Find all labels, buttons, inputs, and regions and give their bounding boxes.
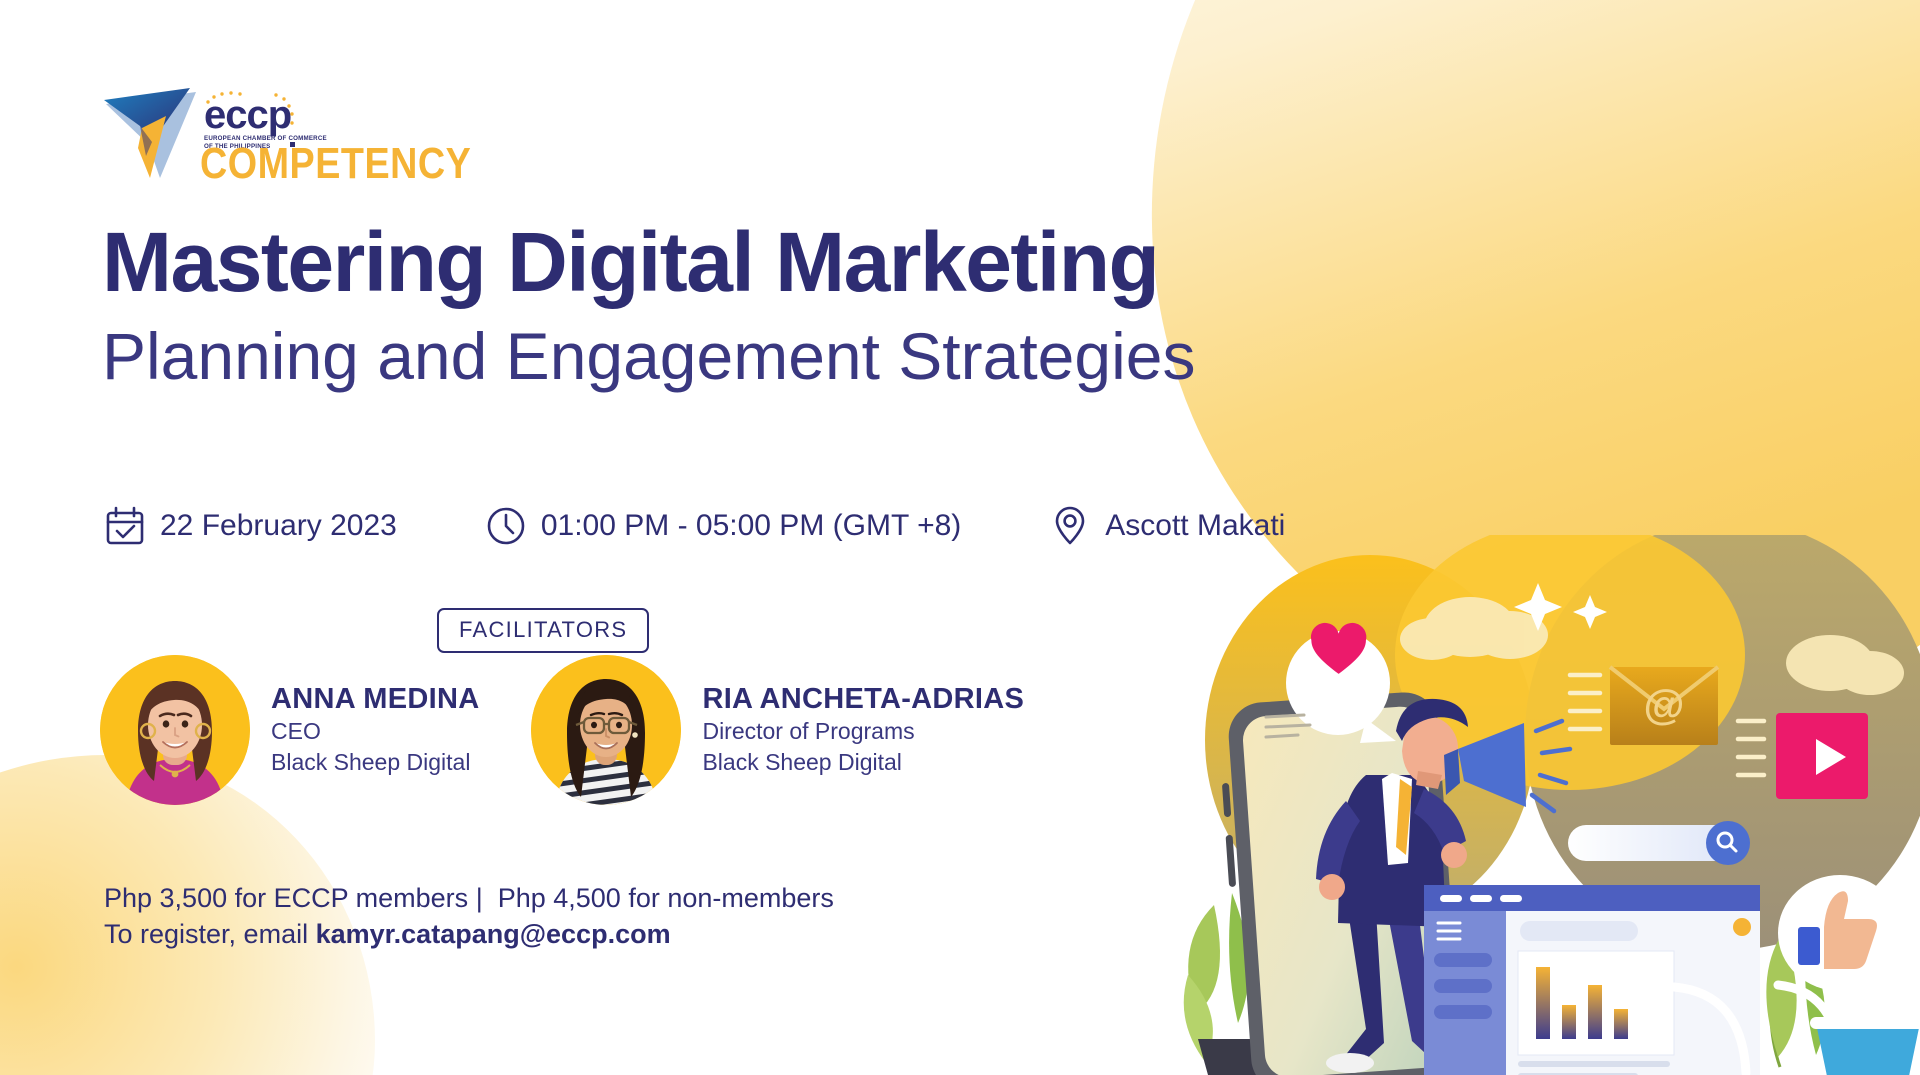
event-subtitle: Planning and Engagement Strategies	[102, 316, 1195, 397]
facilitators-list: ANNA MEDINA CEO Black Sheep Digital	[100, 655, 1024, 805]
facilitator-name: ANNA MEDINA	[271, 682, 479, 717]
clock-icon	[485, 505, 527, 547]
pricing-rates-line: Php 3,500 for ECCP members | Php 4,500 f…	[104, 880, 834, 916]
shopping-cart	[1778, 985, 1920, 1075]
event-time-item: 01:00 PM - 05:00 PM (GMT +8)	[485, 505, 961, 547]
facilitator-info: RIA ANCHETA-ADRIAS Director of Programs …	[702, 682, 1024, 779]
svg-text:@: @	[1644, 681, 1685, 728]
location-pin-icon	[1049, 505, 1091, 547]
pricing-block: Php 3,500 for ECCP members | Php 4,500 f…	[104, 880, 834, 952]
sidebar-rows	[1434, 953, 1492, 1019]
facilitators-badge: FACILITATORS	[437, 608, 649, 653]
event-date-item: 22 February 2023	[104, 505, 397, 547]
browser-window-bar-chart	[1424, 885, 1760, 1075]
window-controls	[1440, 895, 1522, 902]
digital-marketing-illustration: @	[1170, 535, 1920, 1075]
facilitator-role: CEO	[271, 716, 479, 747]
event-venue-text: Ascott Makati	[1105, 509, 1285, 543]
event-time-text: 01:00 PM - 05:00 PM (GMT +8)	[541, 509, 961, 543]
register-prefix: To register, email	[104, 919, 316, 949]
event-venue-item: Ascott Makati	[1049, 505, 1285, 547]
calendar-check-icon	[104, 505, 146, 547]
avatar-anna-medina	[100, 655, 250, 805]
search-bar	[1568, 821, 1750, 865]
svg-text:eccp: eccp	[204, 93, 291, 137]
competency-hub-text: COMPETENCY HUB	[200, 138, 484, 182]
facilitators-badge-label: FACILITATORS	[459, 617, 627, 642]
avatar-ria-ancheta-adrias	[531, 655, 681, 805]
registration-email[interactable]: kamyr.catapang@eccp.com	[316, 919, 671, 949]
title-block: Mastering Digital Marketing Planning and…	[102, 220, 1195, 397]
facilitator-organization: Black Sheep Digital	[702, 747, 1024, 778]
facilitator-role: Director of Programs	[702, 716, 1024, 747]
event-meta-row: 22 February 2023 01:00 PM - 05:00 PM (GM…	[104, 505, 1285, 547]
eccp-competency-hub-logo: eccp EUROPEAN CHAMBER OF COMMERCE OF THE…	[104, 82, 484, 182]
event-date-text: 22 February 2023	[160, 509, 397, 543]
non-members-rate: Php 4,500 for non-members	[498, 883, 834, 913]
facilitator-name: RIA ANCHETA-ADRIAS	[702, 682, 1024, 717]
facilitator-organization: Black Sheep Digital	[271, 747, 479, 778]
facilitator-card: ANNA MEDINA CEO Black Sheep Digital	[100, 655, 479, 805]
event-title: Mastering Digital Marketing	[102, 220, 1195, 304]
members-rate: Php 3,500 for ECCP members	[104, 883, 468, 913]
thumbs-up-badge	[1778, 875, 1902, 991]
facilitator-card: RIA ANCHETA-ADRIAS Director of Programs …	[531, 655, 1024, 805]
facilitator-info: ANNA MEDINA CEO Black Sheep Digital	[271, 682, 479, 779]
registration-line: To register, email kamyr.catapang@eccp.c…	[104, 916, 834, 952]
rate-separator: |	[476, 883, 483, 913]
